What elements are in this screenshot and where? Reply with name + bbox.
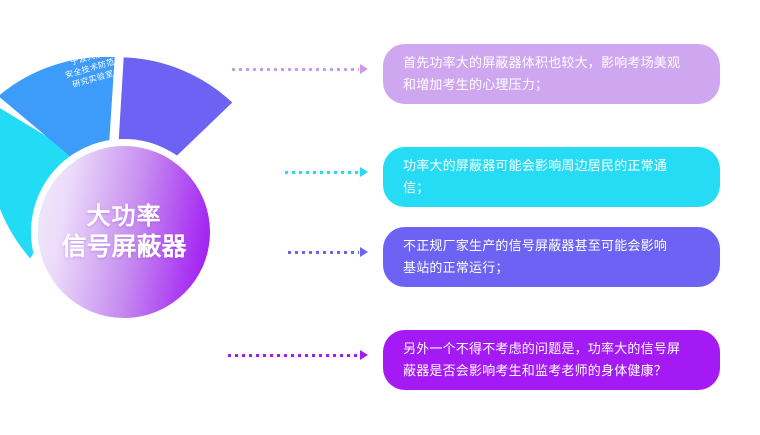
connector-1-arrowhead bbox=[360, 64, 368, 74]
message-box-2[interactable]: 功率大的屏蔽器可能会影响周边居民的正常通 信； bbox=[383, 147, 720, 207]
message-box-1[interactable]: 首先功率大的屏蔽器体积也较大，影响考场美观 和增加考生的心理压力； bbox=[383, 44, 720, 104]
message-4-line-1: 另外一个不得不考虑的问题是，功率大的信号屏 bbox=[403, 338, 680, 360]
connector-2-dots bbox=[285, 171, 359, 174]
hub-title-line-1: 大功率 bbox=[87, 202, 162, 232]
message-2-text: 功率大的屏蔽器可能会影响周边居民的正常通 信； bbox=[403, 155, 667, 199]
connector-arrow-4 bbox=[228, 349, 368, 361]
message-box-3[interactable]: 不正规厂家生产的信号屏蔽器甚至可能会影响 基站的正常运行； bbox=[383, 227, 720, 287]
message-box-4[interactable]: 另外一个不得不考虑的问题是，功率大的信号屏 蔽器是否会影响考生和监考老师的身体健… bbox=[383, 330, 720, 390]
connector-arrow-1 bbox=[232, 63, 368, 75]
message-4-text: 另外一个不得不考虑的问题是，功率大的信号屏 蔽器是否会影响考生和监考老师的身体健… bbox=[403, 338, 680, 382]
message-3-line-1: 不正规厂家生产的信号屏蔽器甚至可能会影响 bbox=[403, 235, 667, 257]
connector-3-arrowhead bbox=[360, 247, 368, 257]
connector-arrow-3 bbox=[288, 246, 368, 258]
message-2-line-2: 信； bbox=[403, 177, 667, 199]
connector-arrow-2 bbox=[285, 166, 368, 178]
message-2-line-1: 功率大的屏蔽器可能会影响周边居民的正常通 bbox=[403, 155, 667, 177]
connector-1-dots bbox=[232, 68, 359, 71]
message-1-text: 首先功率大的屏蔽器体积也较大，影响考场美观 和增加考生的心理压力； bbox=[403, 52, 680, 96]
message-1-line-1: 首先功率大的屏蔽器体积也较大，影响考场美观 bbox=[403, 52, 680, 74]
connector-2-arrowhead bbox=[360, 167, 368, 177]
connector-3-dots bbox=[288, 251, 359, 254]
message-1-line-2: 和增加考生的心理压力； bbox=[403, 74, 680, 96]
message-4-line-2: 蔽器是否会影响考生和监考老师的身体健康？ bbox=[403, 360, 680, 382]
connector-4-arrowhead bbox=[360, 350, 368, 360]
infographic-canvas: 宁波大展 安全技术防范 研究实验室 宁波大展 安全技术防范 研究实验室 大功率 … bbox=[0, 0, 760, 430]
hub-title-line-2: 信号屏蔽器 bbox=[61, 232, 186, 262]
donut-center-hub: 大功率 信号屏蔽器 bbox=[38, 146, 210, 318]
message-3-text: 不正规厂家生产的信号屏蔽器甚至可能会影响 基站的正常运行； bbox=[403, 235, 667, 279]
connector-4-dots bbox=[228, 354, 359, 357]
message-3-line-2: 基站的正常运行； bbox=[403, 257, 667, 279]
